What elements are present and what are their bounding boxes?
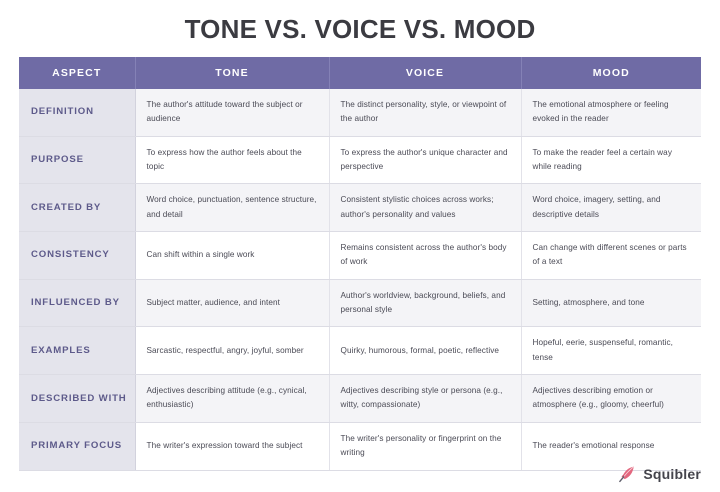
brand-logo: Squibler	[617, 464, 701, 484]
column-header-aspect: ASPECT	[19, 57, 135, 89]
quill-feather-icon	[617, 464, 637, 484]
column-header-voice: VOICE	[329, 57, 521, 89]
table-row: INFLUENCED BY Subject matter, audience, …	[19, 279, 701, 327]
cell-tone: The author's attitude toward the subject…	[135, 89, 329, 136]
row-label-described-with: DESCRIBED WITH	[19, 375, 135, 423]
cell-mood: Adjectives describing emotion or atmosph…	[521, 375, 701, 423]
comparison-infographic: TONE VS. VOICE VS. MOOD ASPECT TONE VOIC…	[0, 0, 720, 492]
comparison-table-container: ASPECT TONE VOICE MOOD DEFINITION The au…	[19, 57, 701, 471]
row-label-created-by: CREATED BY	[19, 184, 135, 232]
table-row: DEFINITION The author's attitude toward …	[19, 89, 701, 136]
column-header-tone: TONE	[135, 57, 329, 89]
cell-voice: Adjectives describing style or persona (…	[329, 375, 521, 423]
table-row: PURPOSE To express how the author feels …	[19, 136, 701, 184]
cell-tone: Can shift within a single work	[135, 232, 329, 280]
table-row: EXAMPLES Sarcastic, respectful, angry, j…	[19, 327, 701, 375]
brand-name: Squibler	[643, 466, 701, 482]
column-header-mood: MOOD	[521, 57, 701, 89]
cell-voice: Remains consistent across the author's b…	[329, 232, 521, 280]
cell-tone: Word choice, punctuation, sentence struc…	[135, 184, 329, 232]
table-body: DEFINITION The author's attitude toward …	[19, 89, 701, 470]
cell-tone: To express how the author feels about th…	[135, 136, 329, 184]
cell-mood: Can change with different scenes or part…	[521, 232, 701, 280]
cell-tone: Adjectives describing attitude (e.g., cy…	[135, 375, 329, 423]
table-row: PRIMARY FOCUS The writer's expression to…	[19, 422, 701, 470]
table-header: ASPECT TONE VOICE MOOD	[19, 57, 701, 89]
cell-voice: Author's worldview, background, beliefs,…	[329, 279, 521, 327]
cell-tone: Subject matter, audience, and intent	[135, 279, 329, 327]
row-label-examples: EXAMPLES	[19, 327, 135, 375]
cell-tone: The writer's expression toward the subje…	[135, 422, 329, 470]
row-label-definition: DEFINITION	[19, 89, 135, 136]
cell-mood: Word choice, imagery, setting, and descr…	[521, 184, 701, 232]
table-header-row: ASPECT TONE VOICE MOOD	[19, 57, 701, 89]
cell-mood: The reader's emotional response	[521, 422, 701, 470]
comparison-table: ASPECT TONE VOICE MOOD DEFINITION The au…	[19, 57, 701, 471]
cell-voice: The writer's personality or fingerprint …	[329, 422, 521, 470]
table-row: CREATED BY Word choice, punctuation, sen…	[19, 184, 701, 232]
cell-voice: Quirky, humorous, formal, poetic, reflec…	[329, 327, 521, 375]
cell-voice: The distinct personality, style, or view…	[329, 89, 521, 136]
row-label-purpose: PURPOSE	[19, 136, 135, 184]
cell-mood: Hopeful, eerie, suspenseful, romantic, t…	[521, 327, 701, 375]
row-label-influenced-by: INFLUENCED BY	[19, 279, 135, 327]
cell-voice: To express the author's unique character…	[329, 136, 521, 184]
cell-voice: Consistent stylistic choices across work…	[329, 184, 521, 232]
cell-mood: To make the reader feel a certain way wh…	[521, 136, 701, 184]
row-label-consistency: CONSISTENCY	[19, 232, 135, 280]
table-row: DESCRIBED WITH Adjectives describing att…	[19, 375, 701, 423]
cell-tone: Sarcastic, respectful, angry, joyful, so…	[135, 327, 329, 375]
row-label-primary-focus: PRIMARY FOCUS	[19, 422, 135, 470]
page-title: TONE VS. VOICE VS. MOOD	[0, 0, 720, 44]
cell-mood: Setting, atmosphere, and tone	[521, 279, 701, 327]
cell-mood: The emotional atmosphere or feeling evok…	[521, 89, 701, 136]
table-row: CONSISTENCY Can shift within a single wo…	[19, 232, 701, 280]
